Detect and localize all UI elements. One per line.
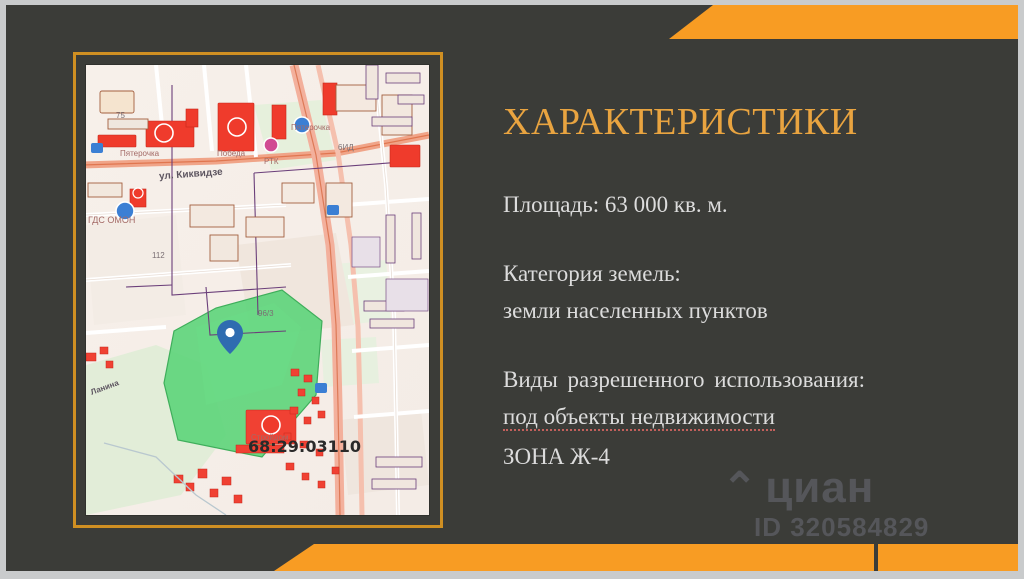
bottom-accent-band-right [878, 544, 1018, 571]
listing-id: ID 320584829 [754, 512, 962, 543]
top-accent-band [669, 5, 1018, 39]
presentation-slide: Пятерочка Пятерочка Победа РТК ул. Кикви… [0, 0, 1024, 579]
permitted-use-label: Виды разрешенного использования: [503, 368, 1003, 391]
cian-chevron-icon: ⌃ [722, 467, 757, 509]
zone-value: ЗОНА Ж-4 [503, 445, 1003, 468]
cian-brand-text: циан [765, 466, 874, 510]
cian-watermark: ⌃ циан ID 320584829 [722, 466, 962, 543]
map-image[interactable]: Пятерочка Пятерочка Победа РТК ул. Кикви… [86, 65, 429, 515]
page-title: ХАРАКТЕРИСТИКИ [503, 103, 1003, 141]
area-line: Площадь: 63 000 кв. м. [503, 193, 1003, 216]
characteristics-panel: ХАРАКТЕРИСТИКИ Площадь: 63 000 кв. м. Ка… [503, 103, 1003, 468]
permitted-use-value-text: под объекты недвижимости [503, 405, 775, 431]
permitted-use-value: под объекты недвижимости [503, 405, 1003, 431]
slide-canvas: Пятерочка Пятерочка Победа РТК ул. Кикви… [6, 5, 1018, 571]
category-label: Категория земель: [503, 262, 1003, 285]
bottom-accent-band [274, 544, 874, 571]
watermark-logo-row: ⌃ циан [722, 466, 962, 510]
category-value: земли населенных пунктов [503, 299, 1003, 322]
map-pin-icon[interactable] [217, 320, 243, 354]
map-illustration [86, 65, 429, 515]
